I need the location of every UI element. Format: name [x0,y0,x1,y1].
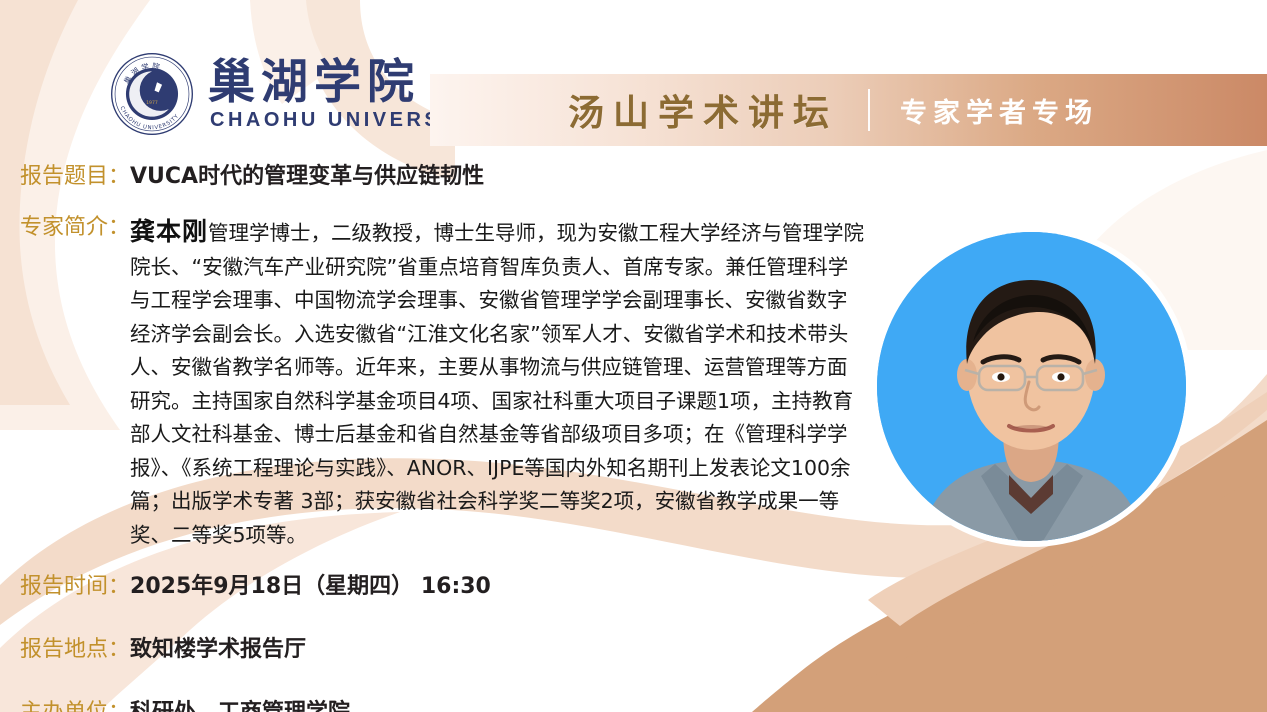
lecture-title-label: 报告题目： [20,158,130,190]
speaker-name: 龚本刚 [130,217,208,246]
forum-banner-subtitle: 专家学者专场 [900,91,1098,130]
lecture-host-value: 科研处、工商管理学院 [130,694,350,712]
university-logo: 1977 巢 湖 学 院 CHAOHU UNIVERSITY 巢湖学院 CHAO… [110,52,483,136]
lecture-title-value: VUCA时代的管理变革与供应链韧性 [130,158,484,190]
poster-header: 1977 巢 湖 学 院 CHAOHU UNIVERSITY 巢湖学院 CHAO… [0,0,1267,150]
lecture-time-row: 报告时间： 2025年9月18日（星期四） 16:30 [20,568,491,600]
lecture-time-label: 报告时间： [20,568,130,600]
lecture-info-block: 报告时间： 2025年9月18日（星期四） 16:30 报告地点： 致知楼学术报… [20,568,491,712]
forum-banner: 汤山学术讲坛 专家学者专场 [430,74,1267,146]
lecture-place-row: 报告地点： 致知楼学术报告厅 [20,631,491,663]
lecture-place-label: 报告地点： [20,631,130,663]
lecture-host-row: 主办单位： 科研处、工商管理学院 [20,694,491,712]
lecture-place-value: 致知楼学术报告厅 [130,631,306,663]
lecture-title-row: 报告题目： VUCA时代的管理变革与供应链韧性 [20,158,484,190]
speaker-bio-text: 管理学博士，二级教授，博士生导师，现为安徽工程大学经济与管理学院院长、“安徽汽车… [130,221,864,547]
svg-text:1977: 1977 [146,100,158,106]
university-seal-icon: 1977 巢 湖 学 院 CHAOHU UNIVERSITY [110,52,194,136]
university-name-cn: 巢湖学院 [208,59,420,106]
poster-canvas: 1977 巢 湖 学 院 CHAOHU UNIVERSITY 巢湖学院 CHAO… [0,0,1267,712]
speaker-portrait [877,232,1186,541]
forum-banner-divider [868,89,870,131]
lecture-time-value: 2025年9月18日（星期四） 16:30 [130,568,491,600]
speaker-bio-row: 专家简介： 龚本刚管理学博士，二级教授，博士生导师，现为安徽工程大学经济与管理学… [20,212,900,552]
speaker-bio-body: 龚本刚管理学博士，二级教授，博士生导师，现为安徽工程大学经济与管理学院院长、“安… [130,212,866,552]
lecture-host-label: 主办单位： [20,694,130,712]
seal-svg: 1977 巢 湖 学 院 CHAOHU UNIVERSITY [110,52,194,136]
forum-banner-title: 汤山学术讲坛 [568,84,838,136]
speaker-bio-label: 专家简介： [20,212,130,244]
speaker-portrait-svg [877,232,1186,541]
